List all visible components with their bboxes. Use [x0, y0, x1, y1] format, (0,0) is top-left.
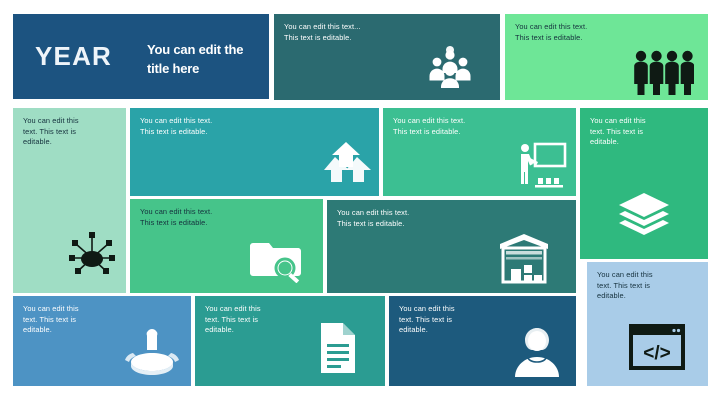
tile-layers-text: You can edit this text. This text is edi…	[590, 116, 700, 148]
year-label: YEAR	[35, 36, 112, 76]
tile-team-row-text: You can edit this text. This text is edi…	[515, 22, 700, 43]
presenter-board-icon	[515, 140, 567, 188]
tile-arrows-text: You can edit this text. This text is edi…	[140, 116, 371, 137]
code-window-icon: </>	[629, 324, 685, 370]
tile-code-window[interactable]: You can edit this text. This text is edi…	[587, 262, 708, 386]
tile-mint-left-text: You can edit this text. This text is edi…	[23, 116, 118, 148]
tile-user[interactable]: You can edit this text. This text is edi…	[389, 296, 576, 386]
tile-folder-search[interactable]: You can edit this text. This text is edi…	[130, 199, 323, 293]
tile-warehouse[interactable]: You can edit this text. This text is edi…	[327, 200, 576, 293]
layers-icon	[616, 190, 672, 238]
tile-layers[interactable]: You can edit this text. This text is edi…	[580, 108, 708, 259]
tile-folder-search-text: You can edit this text. This text is edi…	[140, 207, 315, 228]
tile-arrows[interactable]: You can edit this text. This text is edi…	[130, 108, 379, 196]
user-avatar-icon	[509, 326, 565, 378]
virus-network-icon	[68, 228, 116, 276]
tile-warehouse-text: You can edit this text. This text is edi…	[337, 208, 568, 229]
arrows-up-icon	[322, 140, 372, 188]
slide-canvas: YEAR You can edit the title here You can…	[0, 0, 720, 405]
warehouse-icon	[497, 232, 551, 284]
people-row-icon	[632, 49, 694, 95]
folder-search-icon	[250, 235, 304, 283]
joystick-icon	[123, 328, 179, 378]
tile-presentation[interactable]: You can edit this text. This text is edi…	[383, 108, 576, 196]
slide-title[interactable]: You can edit the title here	[147, 40, 267, 78]
document-icon	[317, 322, 357, 374]
tile-mint-left[interactable]: You can edit this text. This text is edi…	[13, 108, 126, 293]
tile-joystick[interactable]: You can edit this text. This text is edi…	[13, 296, 191, 386]
tile-team-row[interactable]: You can edit this text. This text is edi…	[505, 14, 708, 100]
tile-year-title[interactable]: YEAR You can edit the title here	[13, 14, 269, 99]
tile-presentation-text: You can edit this text. This text is edi…	[393, 116, 568, 137]
tile-code-window-text: You can edit this text. This text is edi…	[597, 270, 700, 302]
tile-people-group-text: You can edit this text... This text is e…	[284, 22, 492, 43]
svg-text:</>: </>	[643, 343, 670, 364]
people-group-heart-icon	[424, 42, 476, 88]
tile-people-group[interactable]: You can edit this text... This text is e…	[274, 14, 500, 100]
tile-document[interactable]: You can edit this text. This text is edi…	[195, 296, 385, 386]
